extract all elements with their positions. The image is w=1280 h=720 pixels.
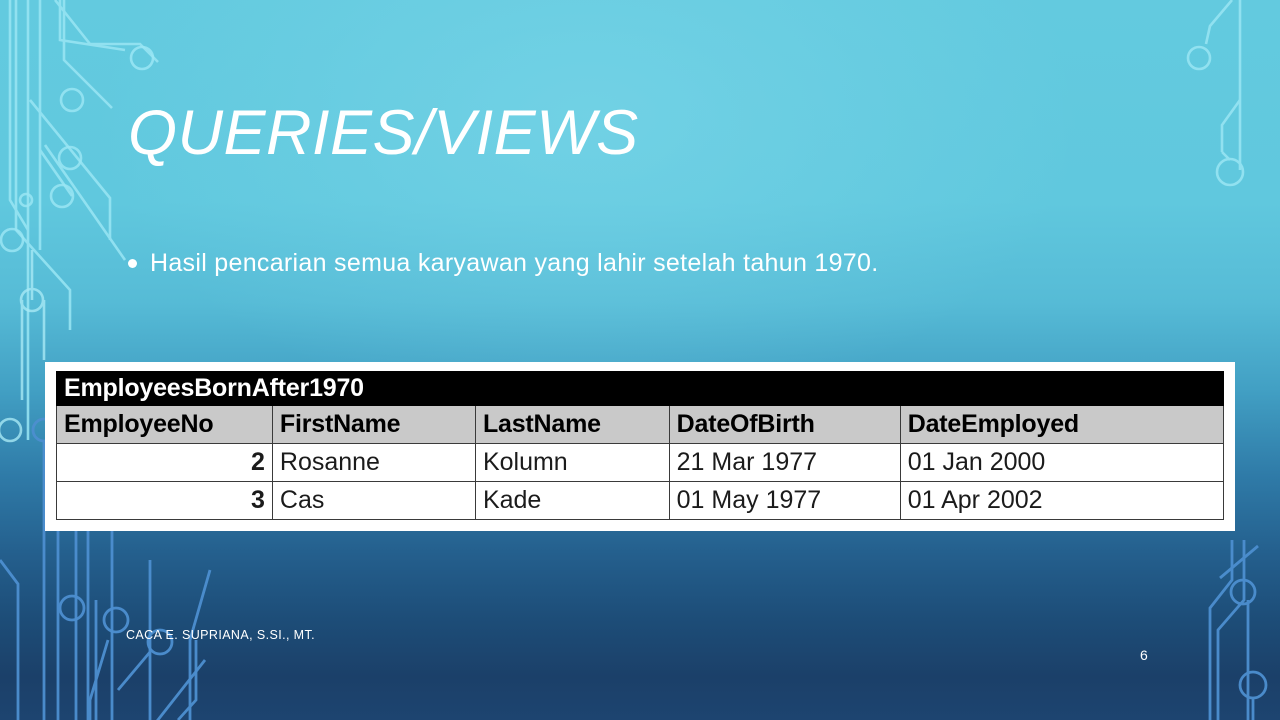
presentation-slide: QUERIES/VIEWS Hasil pencarian semua kary…: [0, 0, 1280, 720]
cell-firstname: Rosanne: [272, 444, 475, 482]
cell-dateofbirth: 01 May 1977: [669, 482, 900, 520]
cell-employeeno: 3: [57, 482, 273, 520]
query-result-table-image: EmployeesBornAfter1970 EmployeeNo FirstN…: [45, 362, 1235, 531]
table-row: 2 Rosanne Kolumn 21 Mar 1977 01 Jan 2000: [57, 444, 1224, 482]
bullet-point-icon: [128, 259, 137, 268]
table-row: 3 Cas Kade 01 May 1977 01 Apr 2002: [57, 482, 1224, 520]
column-header-firstname[interactable]: FirstName: [272, 406, 475, 444]
slide-page-number: 6: [1140, 647, 1148, 663]
cell-dateemployed: 01 Jan 2000: [900, 444, 1223, 482]
cell-employeeno: 2: [57, 444, 273, 482]
cell-dateofbirth: 21 Mar 1977: [669, 444, 900, 482]
bullet-list-item: Hasil pencarian semua karyawan yang lahi…: [128, 248, 878, 279]
table-header-row: EmployeeNo FirstName LastName DateOfBirt…: [57, 406, 1224, 444]
cell-firstname: Cas: [272, 482, 475, 520]
query-name-label: EmployeesBornAfter1970: [57, 372, 1224, 406]
column-header-dateofbirth[interactable]: DateOfBirth: [669, 406, 900, 444]
slide-title: QUERIES/VIEWS: [128, 100, 639, 166]
cell-lastname: Kade: [475, 482, 669, 520]
cell-dateemployed: 01 Apr 2002: [900, 482, 1223, 520]
bullet-item-text: Hasil pencarian semua karyawan yang lahi…: [150, 248, 878, 279]
footer-author-text: CACA E. SUPRIANA, S.SI., MT.: [126, 628, 315, 642]
column-header-dateemployed[interactable]: DateEmployed: [900, 406, 1223, 444]
column-header-employeeno[interactable]: EmployeeNo: [57, 406, 273, 444]
cell-lastname: Kolumn: [475, 444, 669, 482]
column-header-lastname[interactable]: LastName: [475, 406, 669, 444]
query-title-row: EmployeesBornAfter1970: [57, 372, 1224, 406]
query-result-table: EmployeesBornAfter1970 EmployeeNo FirstN…: [56, 371, 1224, 520]
